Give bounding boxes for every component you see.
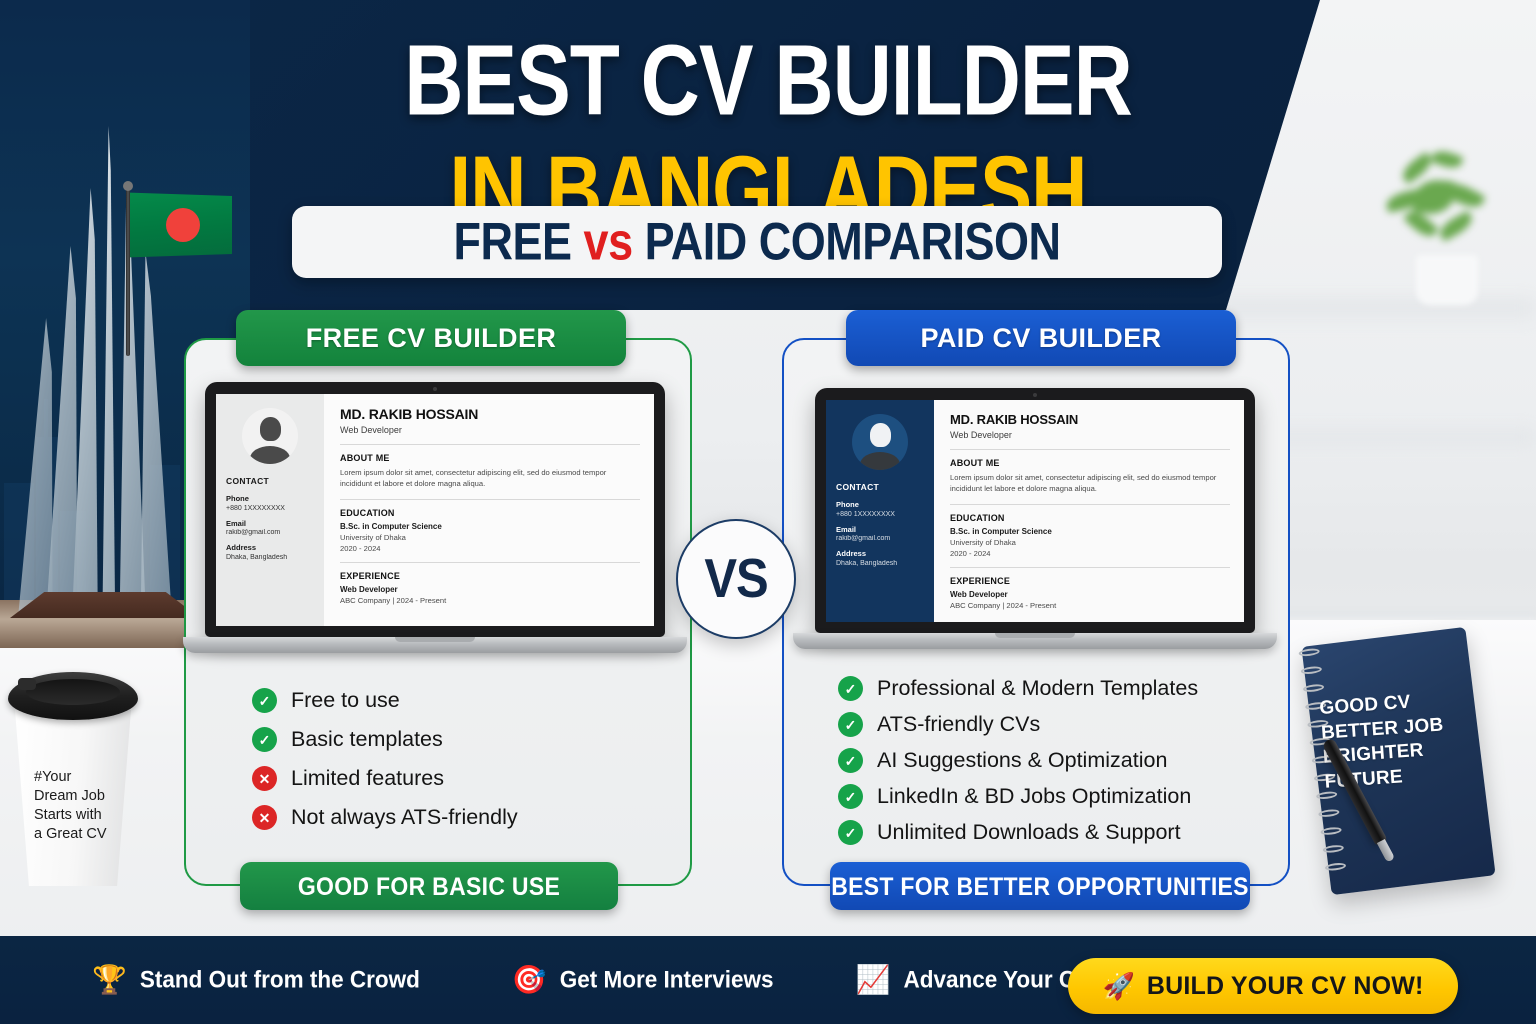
laptop-camera-icon	[1033, 393, 1037, 397]
cv-address-label: Address	[836, 549, 924, 558]
check-icon: ✓	[252, 688, 277, 713]
check-icon: ✓	[838, 712, 863, 737]
shelf-line	[1210, 300, 1536, 316]
cv-email-label: Email	[226, 519, 314, 528]
footer-item-interviews: 🎯 Get More Interviews	[512, 966, 774, 994]
list-item: ✓ LinkedIn & BD Jobs Optimization	[838, 784, 1198, 809]
cv-experience-role: Web Developer	[340, 585, 640, 594]
laptop-camera-icon	[433, 387, 437, 391]
cv-address-value: Dhaka, Bangladesh	[226, 554, 314, 561]
cup-lid	[8, 672, 138, 720]
laptop-lid: CONTACT Phone +880 1XXXXXXXX Email rakib…	[815, 388, 1255, 633]
rocket-icon: 🚀	[1102, 973, 1134, 999]
footer-label: Get More Interviews	[560, 966, 774, 994]
notebook-prop: GOOD CV BETTER JOB BRIGHTER FUTURE	[1306, 636, 1496, 908]
cv-experience-company: ABC Company | 2024 - Present	[340, 596, 640, 605]
check-icon: ✓	[838, 820, 863, 845]
list-item: ✕ Not always ATS-friendly	[252, 805, 518, 830]
cv-phone-value: +880 1XXXXXXXX	[226, 505, 314, 512]
cv-main-column: MD. RAKIB HOSSAIN Web Developer ABOUT ME…	[324, 394, 654, 626]
cv-role: Web Developer	[950, 430, 1230, 440]
cv-about-text: Lorem ipsum dolor sit amet, consectetur …	[950, 472, 1230, 495]
cv-experience-company: ABC Company | 2024 - Present	[950, 601, 1230, 610]
subtitle-paid: PAID COMPARISON	[645, 211, 1061, 271]
list-item: ✓ AI Suggestions & Optimization	[838, 748, 1198, 773]
check-icon: ✓	[838, 784, 863, 809]
footer-label: Stand Out from the Crowd	[140, 966, 420, 994]
paid-cv-preview: CONTACT Phone +880 1XXXXXXXX Email rakib…	[826, 400, 1244, 622]
divider	[950, 449, 1230, 450]
divider	[950, 567, 1230, 568]
feature-label: AI Suggestions & Optimization	[877, 748, 1167, 773]
check-icon: ✓	[838, 748, 863, 773]
feature-label: ATS-friendly CVs	[877, 712, 1040, 737]
cv-email-value: rakib@gmail.com	[226, 529, 314, 536]
divider	[340, 562, 640, 563]
divider	[950, 504, 1230, 505]
paid-badge-footer[interactable]: BEST FOR BETTER OPPORTUNITIES	[830, 862, 1250, 910]
list-item: ✕ Limited features	[252, 766, 518, 791]
cv-about-heading: ABOUT ME	[340, 453, 640, 463]
feature-label: Unlimited Downloads & Support	[877, 820, 1181, 845]
trophy-icon: 🏆	[92, 966, 127, 994]
versus-badge: VS	[676, 519, 796, 639]
target-dart-icon: 🎯	[512, 966, 547, 994]
infographic-canvas: BEST CV BUILDER IN BANGLADESH FREE vs PA…	[0, 0, 1536, 1024]
cv-education-degree: B.Sc. in Computer Science	[950, 527, 1230, 536]
cv-education-degree: B.Sc. in Computer Science	[340, 522, 640, 531]
laptop-base	[183, 637, 687, 653]
cv-sidebar: CONTACT Phone +880 1XXXXXXXX Email rakib…	[216, 394, 324, 626]
free-cv-preview: CONTACT Phone +880 1XXXXXXXX Email rakib…	[216, 394, 654, 626]
check-icon: ✓	[252, 727, 277, 752]
cv-address-value: Dhaka, Bangladesh	[836, 560, 924, 567]
cv-education-heading: EDUCATION	[950, 513, 1230, 523]
paid-badge-header-label: PAID CV BUILDER	[920, 323, 1161, 354]
cv-main-column: MD. RAKIB HOSSAIN Web Developer ABOUT ME…	[934, 400, 1244, 622]
cv-experience-role: Web Developer	[950, 590, 1230, 599]
list-item: ✓ Basic templates	[252, 727, 518, 752]
divider	[340, 444, 640, 445]
cv-about-text: Lorem ipsum dolor sit amet, consectetur …	[340, 467, 640, 490]
cv-email-label: Email	[836, 525, 924, 534]
cv-sidebar: CONTACT Phone +880 1XXXXXXXX Email rakib…	[826, 400, 934, 622]
feature-label: Professional & Modern Templates	[877, 676, 1198, 701]
cv-phone-value: +880 1XXXXXXXX	[836, 511, 924, 518]
cv-education-heading: EDUCATION	[340, 508, 640, 518]
feature-label: Not always ATS-friendly	[291, 805, 518, 830]
paid-badge-footer-label: BEST FOR BETTER OPPORTUNITIES	[831, 871, 1249, 901]
paid-badge-header[interactable]: PAID CV BUILDER	[846, 310, 1236, 366]
cv-phone-label: Phone	[836, 500, 924, 509]
subtitle-free: FREE	[454, 211, 572, 271]
cv-education-school: University of Dhaka	[950, 538, 1230, 547]
cv-name: MD. RAKIB HOSSAIN	[950, 412, 1230, 427]
cv-phone-label: Phone	[226, 494, 314, 503]
laptop-base	[793, 633, 1277, 649]
page-title-line1: BEST CV BUILDER	[0, 0, 1536, 132]
cv-contact-heading: CONTACT	[836, 482, 924, 492]
subtitle-vs: vs	[584, 211, 633, 271]
divider	[340, 499, 640, 500]
avatar	[852, 414, 908, 470]
cv-experience-heading: EXPERIENCE	[950, 576, 1230, 586]
check-icon: ✓	[838, 676, 863, 701]
cross-icon: ✕	[252, 805, 277, 830]
cv-education-school: University of Dhaka	[340, 533, 640, 542]
cv-address-label: Address	[226, 543, 314, 552]
cv-contact-heading: CONTACT	[226, 476, 314, 486]
cv-experience-heading: EXPERIENCE	[340, 571, 640, 581]
list-item: ✓ Free to use	[252, 688, 518, 713]
feature-label: LinkedIn & BD Jobs Optimization	[877, 784, 1191, 809]
cv-email-value: rakib@gmail.com	[836, 535, 924, 542]
free-badge-header[interactable]: FREE CV BUILDER	[236, 310, 626, 366]
paid-feature-list: ✓ Professional & Modern Templates ✓ ATS-…	[838, 676, 1198, 856]
chart-up-icon: 📈	[856, 966, 891, 994]
header-block: BEST CV BUILDER IN BANGLADESH	[0, 0, 1536, 220]
list-item: ✓ Unlimited Downloads & Support	[838, 820, 1198, 845]
build-cv-now-label: BUILD YOUR CV NOW!	[1147, 972, 1424, 1001]
list-item: ✓ ATS-friendly CVs	[838, 712, 1198, 737]
free-badge-footer[interactable]: GOOD FOR BASIC USE	[240, 862, 618, 910]
paid-laptop-mockup: CONTACT Phone +880 1XXXXXXXX Email rakib…	[815, 388, 1255, 649]
subtitle-bar: FREE vs PAID COMPARISON	[292, 206, 1222, 278]
cross-icon: ✕	[252, 766, 277, 791]
footer-item-stand-out: 🏆 Stand Out from the Crowd	[92, 966, 420, 994]
cv-name: MD. RAKIB HOSSAIN	[340, 406, 640, 422]
coffee-cup-text: #Your Dream Job Starts with a Great CV	[34, 768, 122, 845]
cv-about-heading: ABOUT ME	[950, 458, 1230, 468]
plant-pot	[1416, 255, 1478, 305]
feature-label: Basic templates	[291, 727, 443, 752]
shelf-line	[1250, 430, 1536, 444]
free-laptop-mockup: CONTACT Phone +880 1XXXXXXXX Email rakib…	[205, 382, 665, 653]
cv-education-years: 2020 - 2024	[950, 549, 1230, 558]
build-cv-now-button[interactable]: 🚀 BUILD YOUR CV NOW!	[1068, 958, 1458, 1014]
list-item: ✓ Professional & Modern Templates	[838, 676, 1198, 701]
cv-education-years: 2020 - 2024	[340, 544, 640, 553]
free-feature-list: ✓ Free to use ✓ Basic templates ✕ Limite…	[252, 688, 518, 844]
laptop-lid: CONTACT Phone +880 1XXXXXXXX Email rakib…	[205, 382, 665, 637]
subtitle-text: FREE vs PAID COMPARISON	[454, 211, 1061, 272]
coffee-cup-prop: #Your Dream Job Starts with a Great CV	[8, 660, 138, 910]
feature-label: Limited features	[291, 766, 444, 791]
versus-label: VS	[704, 548, 767, 611]
avatar	[242, 408, 298, 464]
free-badge-header-label: FREE CV BUILDER	[306, 323, 557, 354]
free-badge-footer-label: GOOD FOR BASIC USE	[298, 871, 560, 901]
cv-role: Web Developer	[340, 425, 640, 435]
feature-label: Free to use	[291, 688, 400, 713]
